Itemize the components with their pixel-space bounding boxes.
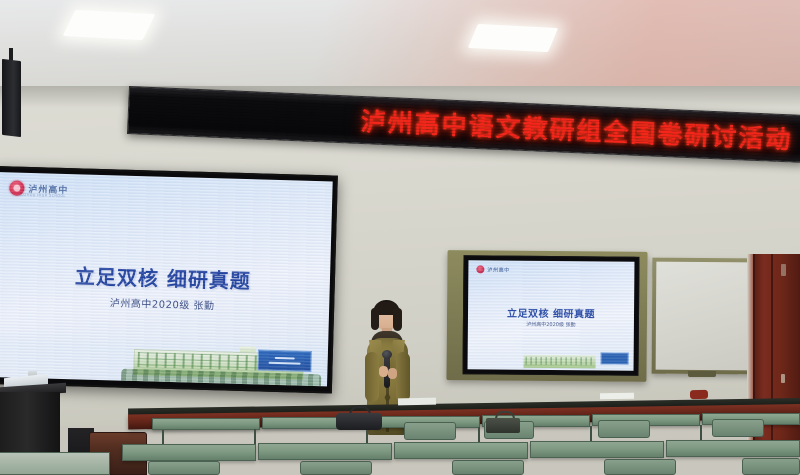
school-logo-subtext: LUZHOU HIGH SCHOOL — [19, 193, 66, 198]
door-lock-icon — [781, 374, 785, 383]
desk-leg-d — [478, 427, 480, 443]
table-paper-right — [600, 393, 634, 400]
main-slide: 泸州高中 LUZHOU HIGH SCHOOL 立足双核 细研真题 泸州高中20… — [0, 172, 333, 386]
presenter-hair-right — [393, 308, 402, 331]
ceiling — [0, 0, 800, 96]
second-bag-on-desk — [486, 418, 520, 433]
desk-leg-e — [590, 426, 592, 442]
secondary-info-box — [601, 352, 629, 364]
chair-back-front-4 — [604, 459, 676, 475]
desk-row2-5 — [666, 440, 800, 457]
secondary-school-emblem-icon — [476, 265, 484, 273]
secondary-slide: 泸州高中 立足双核 细研真题 泸州高中2020级 张勤 — [468, 260, 635, 370]
chair-back-front-5 — [742, 458, 800, 475]
presenter-hand-right — [388, 368, 397, 379]
secondary-school-logo: 泸州高中 — [476, 265, 509, 273]
chair-back-front-3 — [452, 460, 524, 475]
microphone-icon — [382, 350, 392, 359]
chair-back-1 — [404, 422, 456, 440]
info-box-line-1 — [275, 357, 295, 360]
desk-leg-f — [700, 425, 702, 441]
desk-front-left-1 — [0, 452, 110, 475]
desk-row2-3 — [394, 442, 528, 459]
whiteboard[interactable] — [652, 258, 753, 375]
podium — [0, 392, 60, 454]
secondary-display[interactable]: 泸州高中 立足双核 细研真题 泸州高中2020级 张勤 — [462, 255, 639, 376]
classroom-scene: 泸州高中语文教研组全国卷研讨活动 泸州高中 LUZHOU HIGH SCHOOL… — [0, 0, 800, 475]
presenter-hand-left — [379, 366, 388, 377]
secondary-school-logo-text: 泸州高中 — [487, 266, 509, 273]
table-paper-left — [398, 398, 436, 406]
whiteboard-marker-tray — [688, 371, 716, 377]
slide-campus-photo — [0, 331, 328, 386]
desk-leg-c — [366, 428, 368, 444]
slide-info-box — [257, 349, 312, 371]
presenter-hair-left — [371, 308, 379, 330]
secondary-slide-title: 立足双核 细研真题 — [468, 304, 634, 320]
presenter-arm-right — [396, 352, 410, 402]
wall-speaker-icon — [2, 59, 21, 137]
info-box-line-2 — [269, 362, 301, 365]
secondary-slide-subtitle: 泸州高中2020级 张勤 — [468, 320, 634, 328]
chair-back-front-2 — [300, 461, 372, 475]
slide-title: 立足双核 细研真题 — [0, 258, 330, 296]
desk-row2-2 — [258, 443, 392, 460]
presenter-arm-left — [365, 352, 379, 402]
ceiling-panel-light-right — [468, 24, 558, 52]
whiteboard-surface — [656, 262, 749, 371]
desk-leg-b — [254, 429, 256, 445]
secondary-campus-building — [524, 355, 596, 369]
chair-back-front-1 — [148, 461, 220, 475]
ceiling-panel-light-left — [63, 10, 156, 40]
bag-on-desk — [336, 413, 382, 430]
presenter-coat-button-2 — [385, 395, 390, 400]
desk-row2-1 — [122, 444, 256, 461]
main-projection-screen[interactable]: 泸州高中 LUZHOU HIGH SCHOOL 立足双核 细研真题 泸州高中20… — [0, 166, 338, 394]
door-top-bolt-icon — [781, 264, 786, 276]
desk-row2-4 — [530, 441, 664, 458]
table-object — [690, 390, 708, 399]
desk-row1-1 — [152, 418, 260, 430]
chair-back-4 — [712, 419, 764, 437]
chair-back-3 — [598, 420, 650, 438]
